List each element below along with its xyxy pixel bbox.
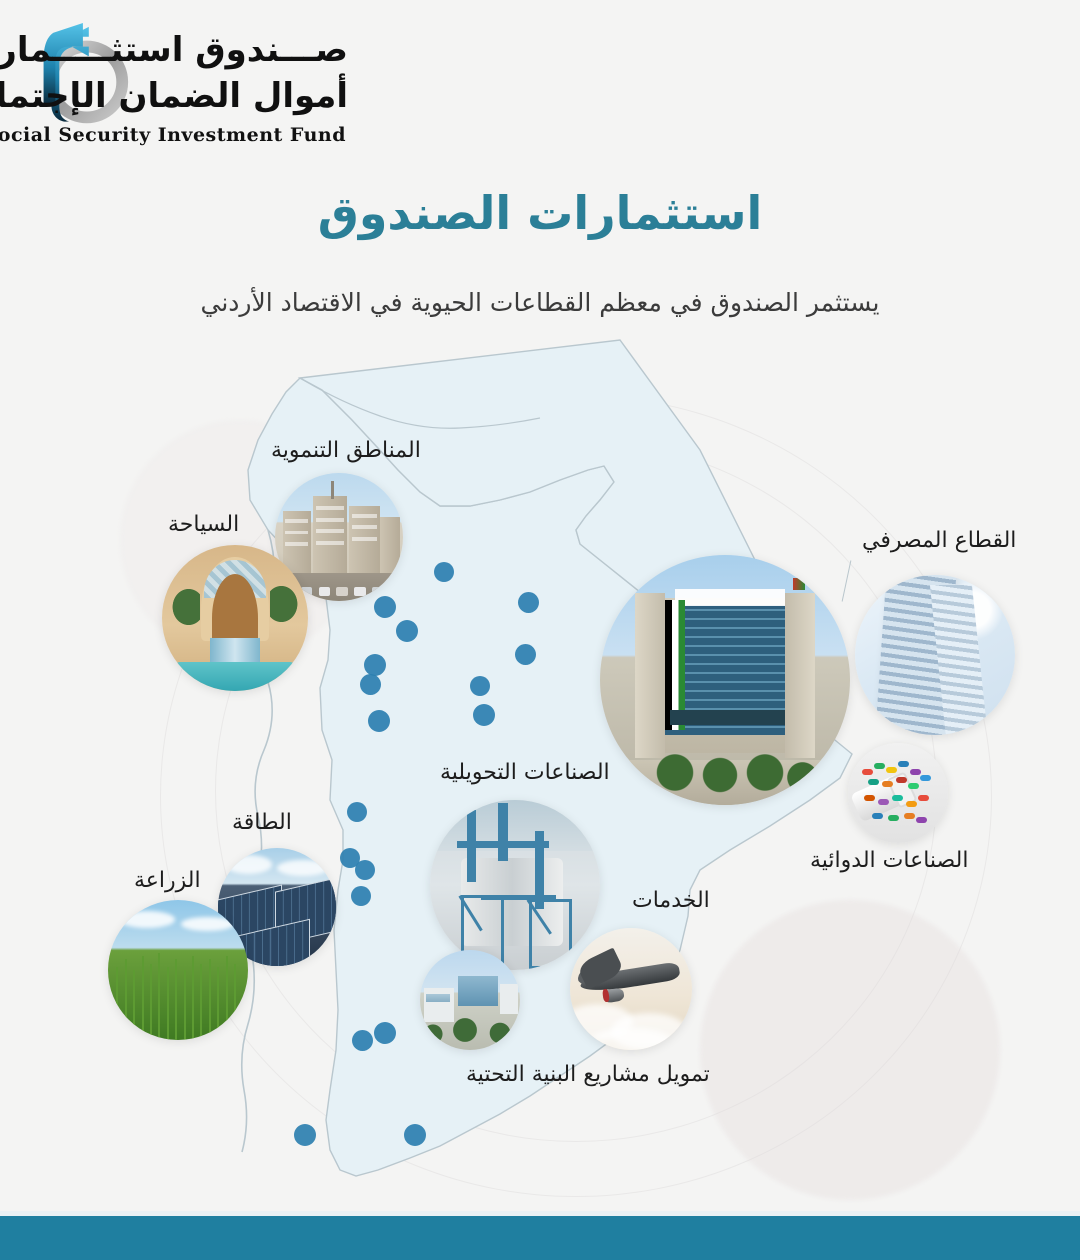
label-energy: الطاقة bbox=[232, 810, 292, 835]
footer-bar bbox=[0, 1216, 1080, 1260]
map-dot bbox=[347, 802, 367, 822]
map-dot bbox=[364, 654, 386, 676]
map-dot bbox=[473, 704, 495, 726]
label-infrastructure: تمويل مشاريع البنية التحتية bbox=[466, 1062, 710, 1087]
map-dot bbox=[352, 1030, 373, 1051]
logo-english-name: Social Security Investment Fund bbox=[0, 124, 346, 146]
map-dot bbox=[374, 1022, 396, 1044]
logo-arabic-line-1: صـــندوق استثـــــمار bbox=[0, 30, 348, 70]
brand-logo[interactable]: صـــندوق استثـــــمار أموال الضمان الإجت… bbox=[18, 14, 468, 154]
label-banking: القطاع المصرفي bbox=[862, 528, 1016, 553]
map-dot bbox=[396, 620, 418, 642]
photo-pharmaceuticals bbox=[848, 743, 948, 843]
map-dot bbox=[360, 674, 381, 695]
photo-services bbox=[570, 928, 692, 1050]
map-dot bbox=[470, 676, 490, 696]
map-dot bbox=[355, 860, 375, 880]
label-tourism: السياحة bbox=[168, 512, 239, 537]
label-agriculture: الزراعة bbox=[134, 868, 201, 893]
photo-banking bbox=[855, 575, 1015, 735]
label-services: الخدمات bbox=[632, 888, 710, 913]
photo-agriculture bbox=[108, 900, 248, 1040]
label-development-zones: المناطق التنموية bbox=[271, 438, 421, 463]
photo-infrastructure bbox=[420, 950, 520, 1050]
photo-tourism bbox=[162, 545, 308, 691]
map-dot bbox=[294, 1124, 316, 1146]
label-manufacturing: الصناعات التحويلية bbox=[440, 760, 610, 785]
page-title: استثمارات الصندوق bbox=[0, 186, 1080, 240]
map-dot bbox=[434, 562, 454, 582]
page-subtitle: يستثمر الصندوق في معظم القطاعات الحيوية … bbox=[0, 288, 1080, 317]
map-dot bbox=[404, 1124, 426, 1146]
map-dot bbox=[351, 886, 371, 906]
map-dot bbox=[515, 644, 536, 665]
photo-headquarters bbox=[600, 555, 850, 805]
map-dot bbox=[518, 592, 539, 613]
map-dot bbox=[368, 710, 390, 732]
infographic-canvas: صـــندوق استثـــــمار أموال الضمان الإجت… bbox=[0, 0, 1080, 1260]
label-pharmaceuticals: الصناعات الدوائية bbox=[810, 848, 968, 873]
logo-arabic-line-2: أموال الضمان الإجتماعي bbox=[0, 76, 348, 116]
